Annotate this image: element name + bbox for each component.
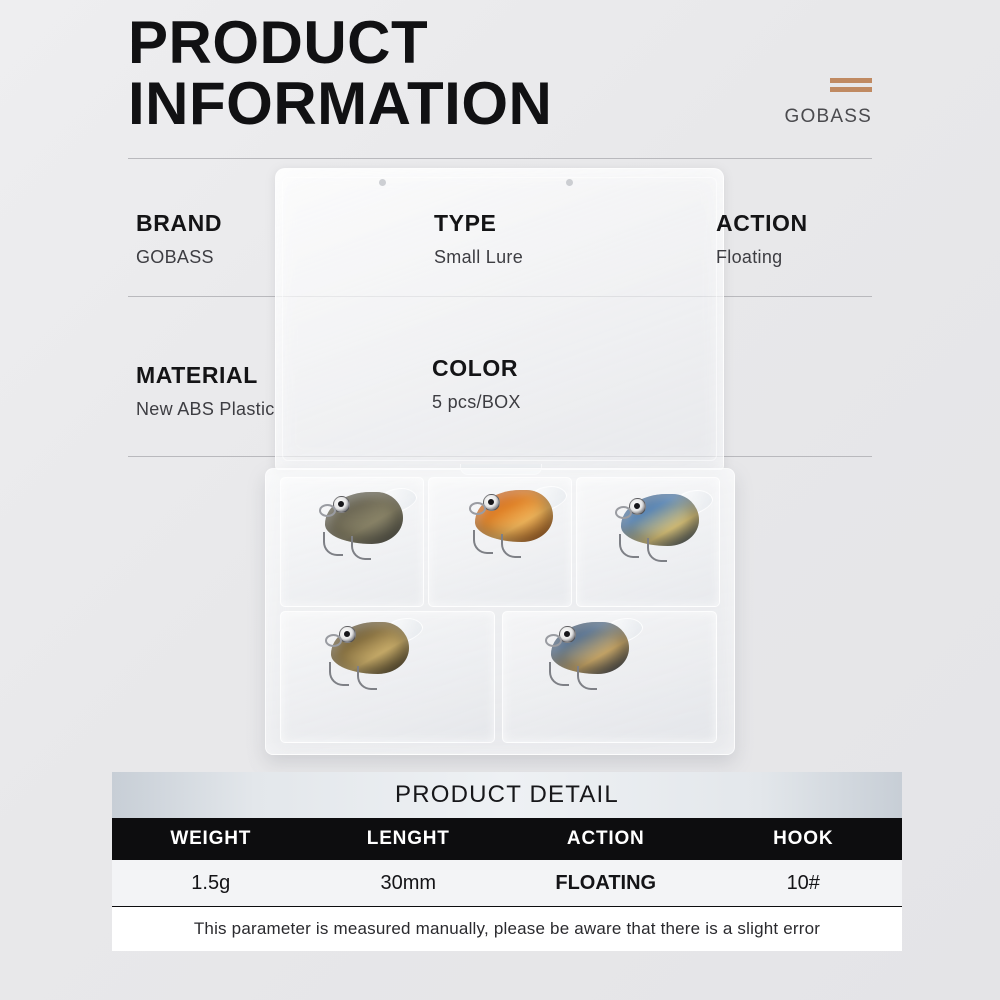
brand-name: GOBASS [692,106,872,128]
brand-bars-icon [692,78,872,92]
cell-weight: 1.5g [112,872,310,895]
cell-action: FLOATING [507,872,705,895]
measurement-note: This parameter is measured manually, ple… [112,907,902,951]
spec-action-label: ACTION [716,210,808,237]
column-header-length: LENGHT [310,828,508,850]
spec-type: TYPE Small Lure [434,210,523,268]
spec-brand-label: BRAND [136,210,222,237]
lure-3 [613,488,709,550]
lure-line-tie-ring [325,634,342,647]
product-information-page: PRODUCT INFORMATION GOBASS [0,0,1000,1000]
spec-material-value: New ABS Plastic [136,399,275,420]
column-header-hook: HOOK [705,828,903,850]
product-detail-table: PRODUCT DETAIL WEIGHT LENGHT ACTION HOOK… [112,772,902,951]
lid-hinge-right-icon [566,179,573,186]
cell-length: 30mm [310,872,508,895]
brand-mark: GOBASS [692,78,872,128]
divider-top [128,158,872,159]
spec-color: COLOR 5 pcs/BOX [432,355,521,413]
page-title-line-1: PRODUCT [128,14,828,71]
lure-line-tie-ring [545,634,562,647]
spec-material: MATERIAL New ABS Plastic [136,362,275,420]
column-header-action: ACTION [507,828,705,850]
column-header-weight: WEIGHT [112,828,310,850]
lid-hinge-left-icon [379,179,386,186]
spec-brand-value: GOBASS [136,247,222,268]
spec-color-value: 5 pcs/BOX [432,392,521,413]
spec-color-label: COLOR [432,355,521,382]
spec-type-value: Small Lure [434,247,523,268]
spec-type-label: TYPE [434,210,523,237]
lure-1 [317,486,413,548]
product-detail-header-row: WEIGHT LENGHT ACTION HOOK [112,818,902,860]
product-detail-title: PRODUCT DETAIL [112,772,902,818]
lure-line-tie-ring [615,506,632,519]
spec-action-value: Floating [716,247,808,268]
lure-2 [467,484,563,546]
spec-action: ACTION Floating [716,210,808,268]
table-row: 1.5g 30mm FLOATING 10# [112,860,902,907]
spec-brand: BRAND GOBASS [136,210,222,268]
spec-material-label: MATERIAL [136,362,275,389]
lure-line-tie-ring [319,504,336,517]
lure-5 [543,616,639,678]
cell-hook: 10# [705,872,903,895]
lure-4 [323,616,419,678]
lure-line-tie-ring [469,502,486,515]
